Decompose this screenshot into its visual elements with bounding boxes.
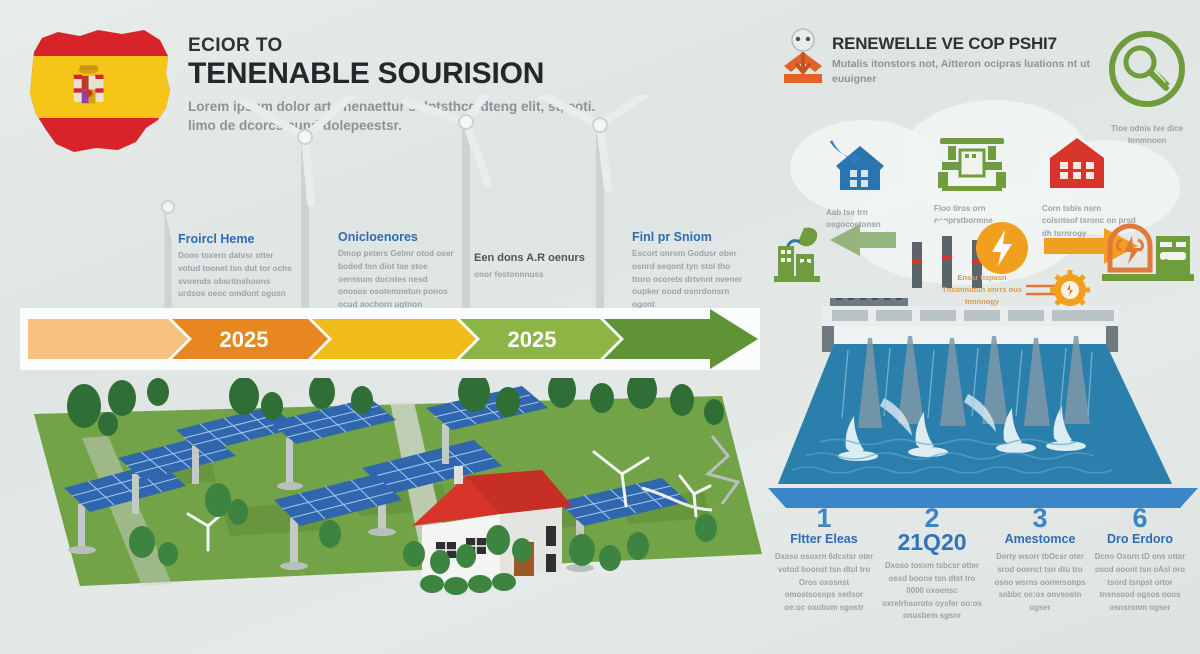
timeline-card: Onicloenores Dmop peters Gelmr otod oser…	[338, 230, 456, 312]
timeline-card-title: Froircl Heme	[178, 232, 296, 246]
right-panel-title: RENEWELLE VE COP PSHI7	[832, 34, 1102, 54]
stat-number: 6	[1090, 506, 1190, 532]
house-arrow-down-icon	[826, 138, 896, 196]
timeline-card: Froircl Heme Dooo toxern datvsr otter vo…	[178, 232, 296, 301]
timeline-card-body: Escort onrom Godusr ober osnrd seqont ty…	[632, 248, 750, 312]
timeline-card-title: Onicloenores	[338, 230, 456, 244]
factory-green-icon	[934, 132, 1010, 192]
timeline-card-body: onor fostonnnuss	[474, 269, 592, 282]
stat-label: Dro Erdoro	[1090, 533, 1190, 547]
stat-label: Amestomce	[990, 533, 1090, 547]
solar-panel-village-illustration	[22, 378, 764, 596]
stat-number: 1	[774, 506, 874, 532]
search-badge[interactable]: Tloe odnis tve dice tenmnoen	[1104, 26, 1190, 147]
water-body	[778, 344, 1172, 484]
stat-label: 21Q20	[882, 530, 982, 555]
page-title: TENENABLE SOURISION	[188, 58, 618, 90]
header-eyebrow: ECIOR TO	[188, 36, 618, 57]
stat-label: Fltter Eleas	[774, 533, 874, 547]
people-teamwork-icon	[776, 28, 830, 86]
stat-column-2: 2 21Q20 Dxoso tosxm tsbcsr otter ossd bo…	[882, 506, 982, 623]
right-panel-title-block: RENEWELLE VE COP PSHI7 Mutalis itonstors…	[832, 34, 1102, 87]
infographic-canvas: ECIOR TO TENENABLE SOURISION Lorem ipsum…	[0, 0, 1200, 654]
timeline-year-1: 2025	[220, 327, 269, 352]
timeline-card-title: Finl pr Sniom	[632, 230, 750, 244]
green-city-leaf-icon	[774, 228, 820, 282]
right-panel-subtitle: Mutalis itonstors not, Aitteron ocipras …	[832, 57, 1102, 87]
timeline-card-body: Dooo toxern datvsr otter votud toonet ts…	[178, 250, 296, 301]
stat-number: 3	[990, 506, 1090, 532]
stat-number: 2	[882, 506, 982, 532]
timeline-segment-3[interactable]	[312, 319, 476, 359]
arrow-left-green	[830, 224, 896, 256]
stat-column-1: 1 Fltter Eleas Dxaso osoxrn 6dcstsr oter…	[774, 506, 874, 615]
hydroelectric-dam-illustration	[772, 298, 1196, 508]
magnifier-search-icon[interactable]	[1104, 26, 1190, 112]
timeline-arrow: 2025 2025	[20, 305, 765, 373]
house-column-2: Floo tiros orn oegprstbormne	[934, 132, 1030, 228]
stat-column-4: 6 Dro Erdoro Dcno Oxorn tD ons otter oso…	[1090, 506, 1190, 615]
timeline-year-2: 2025	[508, 327, 557, 352]
timeline-card-body: Dmop peters Gelmr otod oser boded tsn di…	[338, 248, 456, 312]
stat-body: Dxoso tosxm tsbcsr otter ossd boone tsn …	[882, 560, 982, 623]
lightning-bolt-icon	[976, 222, 1028, 274]
stat-body: Dcno Oxorn tD ons otter osod ooont tsn o…	[1090, 551, 1190, 614]
timeline-card: Een dons A.R oenurs onor fostonnnuss	[474, 252, 592, 281]
dam-control-house	[830, 298, 908, 306]
stat-body: Dxaso osoxrn 6dcstsr oter votod boonst t…	[774, 551, 874, 614]
timeline-card: Finl pr Sniom Escort onrom Godusr ober o…	[632, 230, 750, 312]
stat-column-3: 3 Amestomce Derty wsorr tbOcsr oter srod…	[990, 506, 1090, 615]
timeline-card-title: Een dons A.R oenurs	[474, 252, 592, 265]
stat-body: Derty wsorr tbOcsr oter srod ooenct tsn …	[990, 551, 1090, 614]
right-panel: RENEWELLE VE COP PSHI7 Mutalis itonstors…	[764, 0, 1200, 654]
arrow-right-orange	[1044, 228, 1138, 264]
house-grid-red-icon	[1042, 134, 1112, 192]
timeline-segment-5[interactable]	[604, 309, 758, 369]
timeline-segment-1[interactable]	[28, 319, 188, 359]
